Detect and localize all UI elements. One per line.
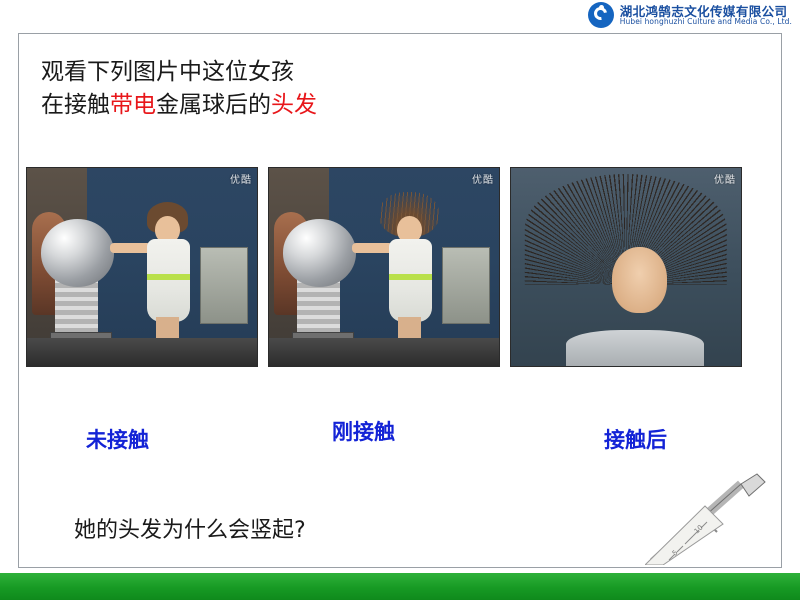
swirl-logo-icon <box>588 2 614 28</box>
girl-arm <box>110 243 151 253</box>
title-line-2: 在接触带电金属球后的头发 <box>41 89 317 122</box>
question-text: 她的头发为什么会竖起? <box>74 512 306 544</box>
photo-row: 优酷 优酷 <box>26 167 776 367</box>
watermark-label: 优酷 <box>472 171 494 186</box>
title-segment-2: 金属球后的 <box>156 92 271 118</box>
scene-illustration-1 <box>27 168 257 366</box>
watermark-label: 优酷 <box>714 171 736 186</box>
caption-untouched: 未接触 <box>86 424 149 454</box>
watermark-label: 优酷 <box>230 171 252 186</box>
company-name-en: Hubei honghuzhi Culture and Media Co., L… <box>620 18 792 26</box>
wall-panel <box>442 247 490 324</box>
ruler-icon: 5 10 <box>645 506 723 565</box>
company-logo: 湖北鸿鹄志文化传媒有限公司 Hubei honghuzhi Culture an… <box>588 2 792 28</box>
girl-untouched-photo: 优酷 <box>26 167 258 367</box>
girl-shoulders <box>566 330 704 366</box>
title-segment-1: 在接触 <box>41 92 110 118</box>
svg-text:10: 10 <box>693 523 705 535</box>
girl-dress <box>147 239 191 322</box>
girl-just-touched-photo: 优酷 <box>268 167 500 367</box>
girl-arm <box>352 243 393 253</box>
girl-legs <box>398 317 421 341</box>
closeup-illustration <box>511 168 741 366</box>
title-highlight-hair: 头发 <box>271 92 317 118</box>
bottom-bar-fill <box>0 573 800 600</box>
content-frame: 观看下列图片中这位女孩 在接触带电金属球后的头发 <box>18 33 782 568</box>
scene-illustration-2 <box>269 168 499 366</box>
title-highlight-charged: 带电 <box>110 92 156 118</box>
header-logo-bar: 湖北鸿鹄志文化传媒有限公司 Hubei honghuzhi Culture an… <box>0 0 800 33</box>
wall-panel <box>200 247 248 324</box>
caption-after-touch: 接触后 <box>604 424 667 454</box>
pen-ruler-decoration: 5 10 <box>645 470 775 565</box>
girl-legs <box>156 317 179 341</box>
floor <box>269 338 499 366</box>
fountain-pen-icon: 5 10 <box>645 470 775 565</box>
page-title: 观看下列图片中这位女孩 在接触带电金属球后的头发 <box>41 56 317 121</box>
company-logo-text: 湖北鸿鹄志文化传媒有限公司 Hubei honghuzhi Culture an… <box>620 5 792 26</box>
company-name-cn: 湖北鸿鹄志文化传媒有限公司 <box>620 5 792 18</box>
floor <box>27 338 257 366</box>
girl-face <box>612 247 667 312</box>
title-line-1: 观看下列图片中这位女孩 <box>41 56 317 89</box>
van-de-graaff-sphere <box>283 219 357 286</box>
van-de-graaff-sphere <box>41 219 115 286</box>
svg-text:5: 5 <box>671 549 680 558</box>
caption-just-touched: 刚接触 <box>332 416 395 446</box>
bottom-bar <box>0 573 800 600</box>
slide-root: 湖北鸿鹄志文化传媒有限公司 Hubei honghuzhi Culture an… <box>0 0 800 600</box>
girl-after-touch-photo: 优酷 <box>510 167 742 367</box>
girl-dress <box>389 239 433 322</box>
